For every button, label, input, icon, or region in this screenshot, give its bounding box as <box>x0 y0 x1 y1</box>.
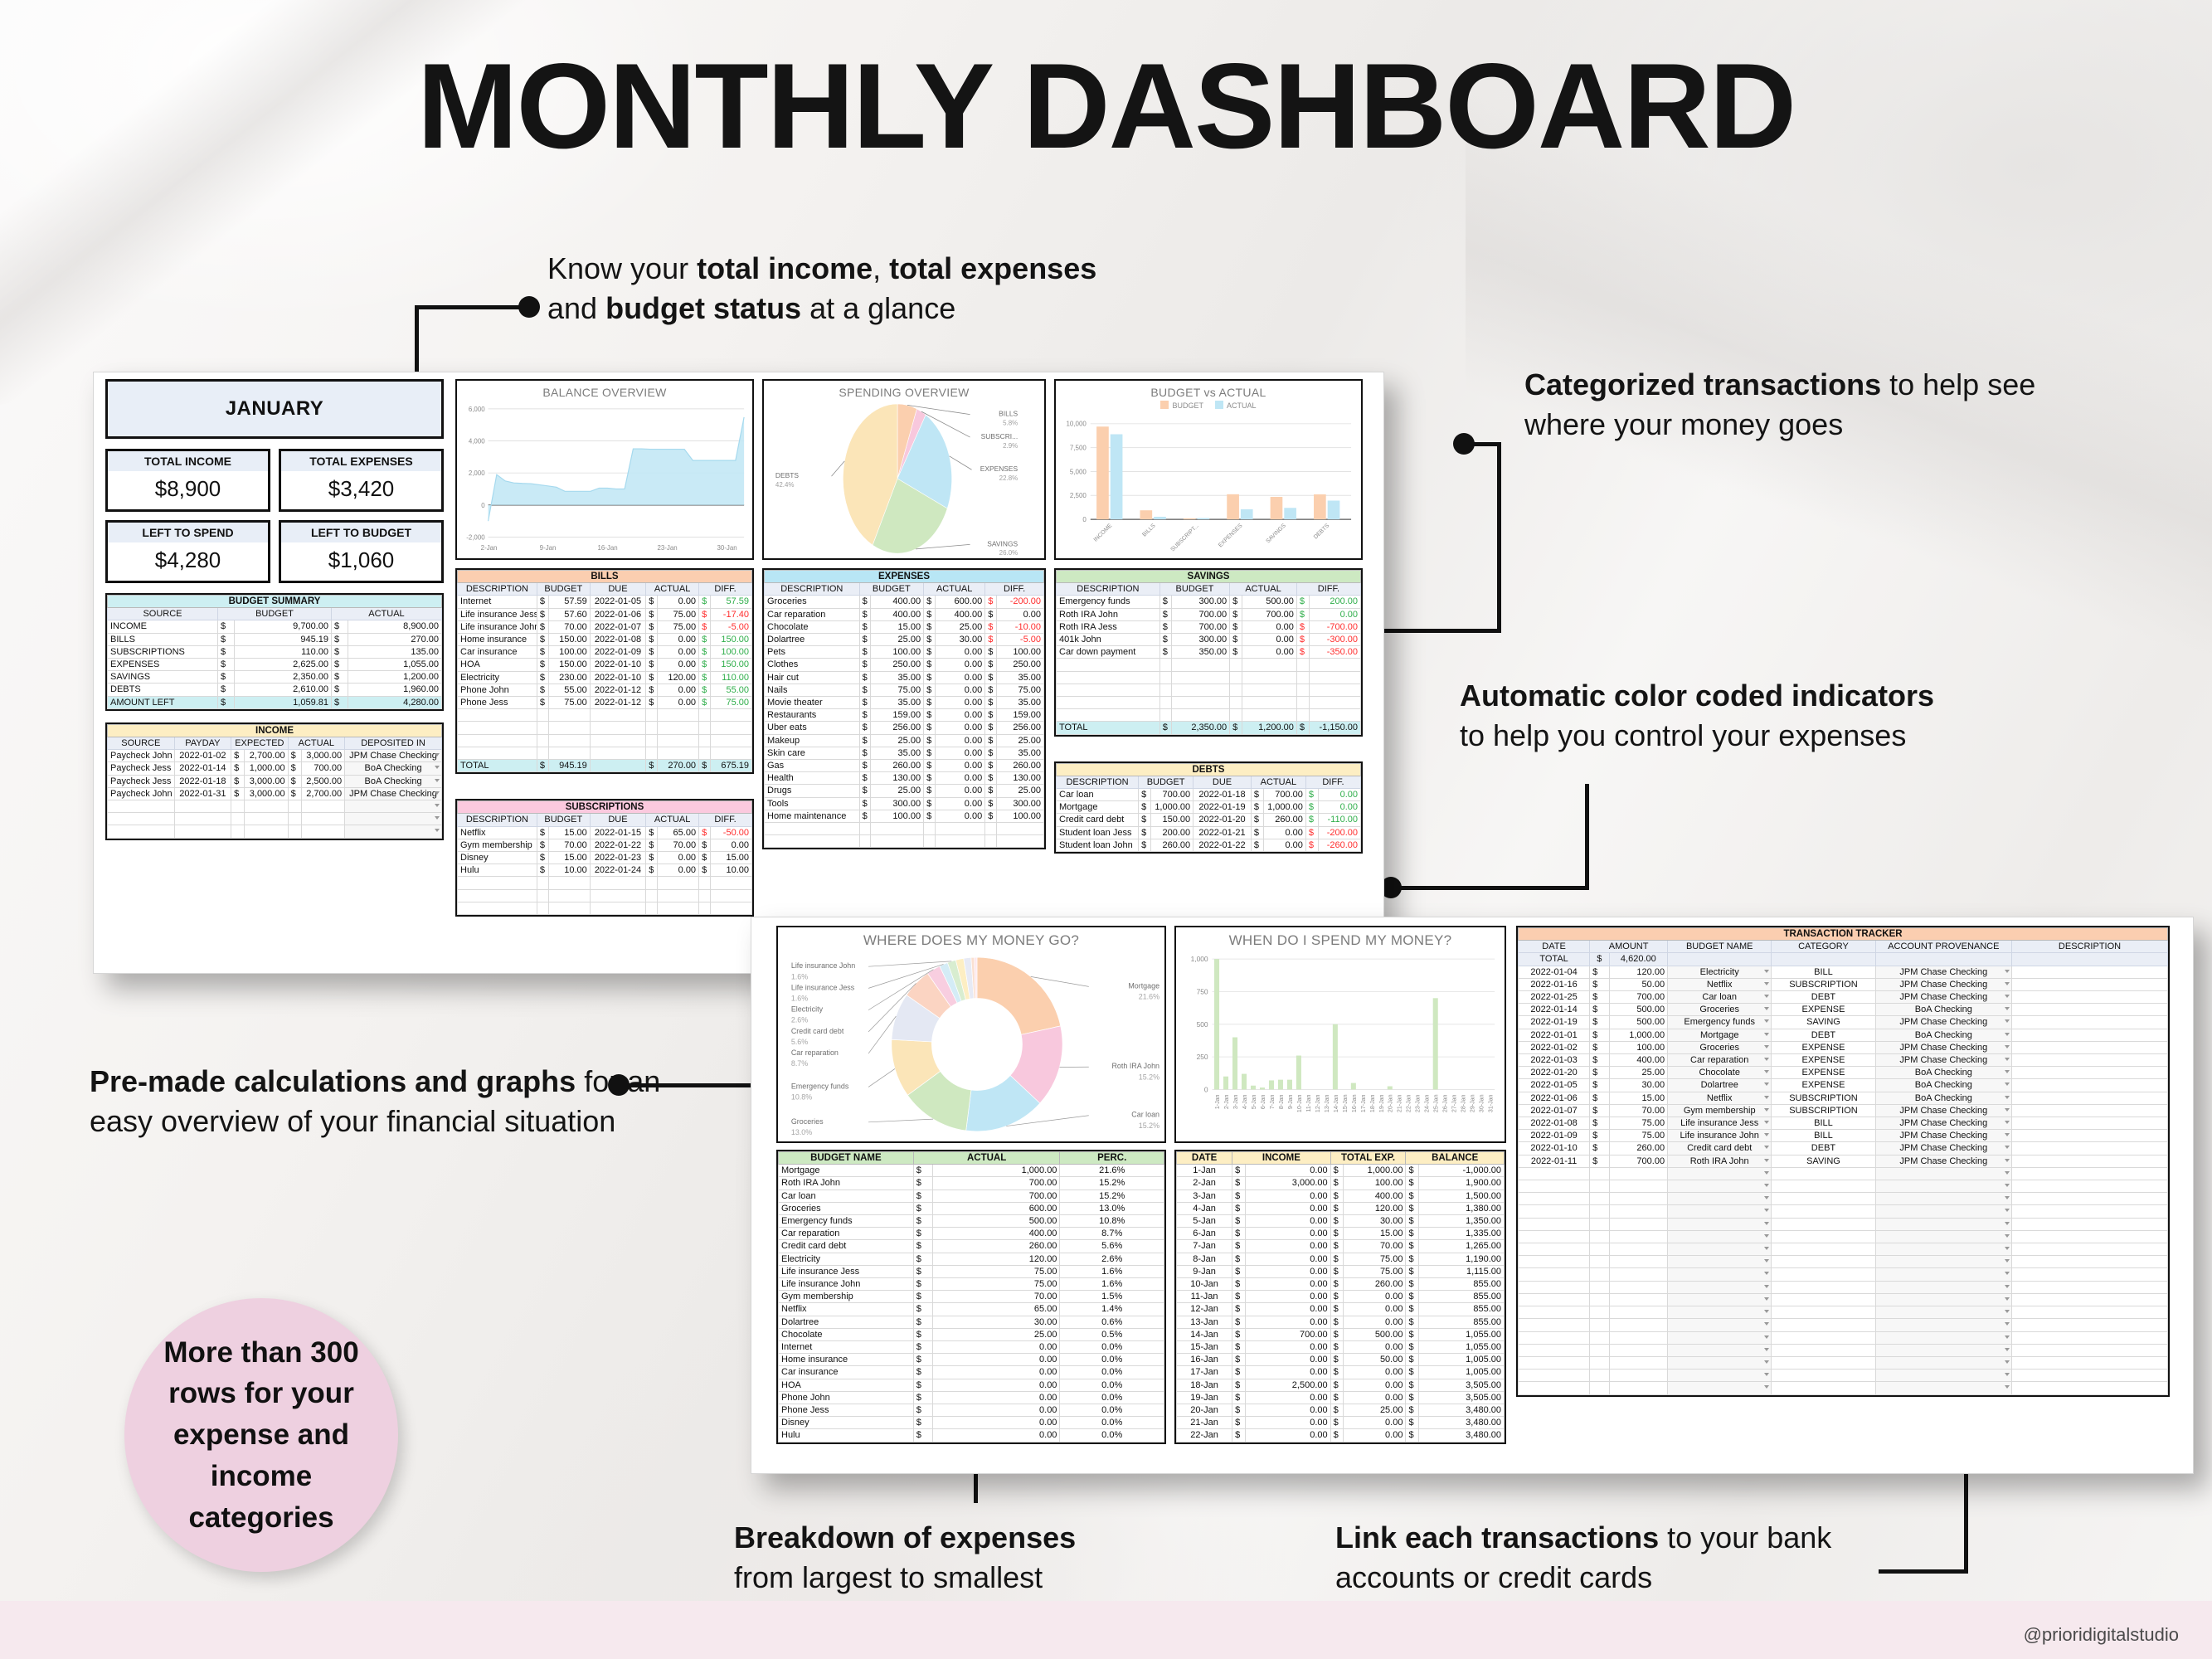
table-row[interactable]: Drugs $25.00 $0.00 $25.00 <box>765 785 1044 797</box>
table-row[interactable]: Nails $75.00 $0.00 $75.00 <box>765 684 1044 696</box>
table-row[interactable] <box>1057 684 1361 696</box>
cell-budget-name[interactable]: Dolartree <box>1668 1079 1772 1092</box>
table-row[interactable]: 2022-01-02 $100.00 Groceries EXPENSE JPM… <box>1519 1041 2168 1053</box>
cell-actual: 30.00 <box>933 1316 1060 1328</box>
table-row[interactable]: Paycheck Jess 2022-01-18 $3,000.00 $2,50… <box>108 775 442 787</box>
table-row[interactable]: Roth IRA John $700.00 15.2% <box>779 1177 1164 1190</box>
cell-account[interactable]: JPM Chase Checking <box>1875 1142 2011 1155</box>
cell-description: Mortgage <box>1057 801 1139 814</box>
table-row[interactable]: 8-Jan $0.00 $75.00 $1,190.00 <box>1177 1253 1505 1265</box>
svg-text:2.6%: 2.6% <box>791 1016 808 1024</box>
cell-description[interactable] <box>2012 966 2168 978</box>
cell-account[interactable]: BoA Checking <box>1875 1067 2011 1079</box>
table-row[interactable] <box>1519 1382 2168 1394</box>
cell-actual: 1,200.00 <box>348 671 442 684</box>
cell-actual: 0.00 <box>933 1404 1060 1417</box>
svg-text:23-Jan: 23-Jan <box>1416 1094 1422 1112</box>
cell-balance: 3,505.00 <box>1419 1379 1505 1391</box>
table-row[interactable]: 7-Jan $0.00 $70.00 $1,265.00 <box>1177 1240 1505 1253</box>
cell-budget: 10.00 <box>549 864 591 877</box>
table-row[interactable]: HOA $150.00 2022-01-10 $0.00 $150.00 <box>458 659 752 671</box>
cell-budget-name[interactable]: Netflix <box>1668 1092 1772 1104</box>
cell-due: 2022-01-08 <box>590 634 645 646</box>
svg-text:30-Jan: 30-Jan <box>717 544 737 552</box>
cell-account[interactable]: JPM Chase Checking <box>1875 1104 2011 1117</box>
table-row[interactable]: Mortgage $1,000.00 21.6% <box>779 1165 1164 1177</box>
cell-category: EXPENSE <box>1772 1079 1875 1092</box>
table-row[interactable]: Emergency funds $300.00 $500.00 $200.00 <box>1057 596 1361 608</box>
table-row[interactable] <box>458 709 752 722</box>
cell-account[interactable]: BoA Checking <box>1875 1092 2011 1104</box>
svg-text:Roth IRA John: Roth IRA John <box>1112 1062 1160 1070</box>
cell-date: 6-Jan <box>1177 1228 1232 1240</box>
table-row[interactable]: BILLS $945.19 $270.00 <box>108 633 442 645</box>
table-row[interactable]: 18-Jan $2,500.00 $0.00 $3,505.00 <box>1177 1379 1505 1391</box>
table-row[interactable]: 2022-01-05 $30.00 Dolartree EXPENSE BoA … <box>1519 1079 2168 1092</box>
table-row[interactable]: Netflix $15.00 2022-01-15 $65.00 $-50.00 <box>458 826 752 839</box>
cell-category: SAVING <box>1772 1155 1875 1167</box>
cell-actual: 0.00 <box>658 596 699 608</box>
table-row[interactable]: Electricity $120.00 2.6% <box>779 1253 1164 1265</box>
cell-balance: 1,005.00 <box>1419 1354 1505 1366</box>
table-row[interactable] <box>1519 1319 2168 1331</box>
table-row[interactable] <box>1519 1256 2168 1268</box>
cell-description[interactable] <box>2012 1117 2168 1130</box>
cell-description[interactable] <box>2012 1004 2168 1016</box>
cell-budget-name[interactable]: Life insurance John <box>1668 1130 1772 1142</box>
table-row[interactable]: 2022-01-01 $1,000.00 Mortgage DEBT BoA C… <box>1519 1029 2168 1041</box>
cell-budget-name[interactable]: Car reparation <box>1668 1054 1772 1067</box>
cell-account[interactable]: JPM Chase Checking <box>1875 966 2011 978</box>
cell-diff: -17.40 <box>711 608 752 620</box>
table-row[interactable]: Disney $0.00 0.0% <box>779 1417 1164 1429</box>
table-row[interactable]: Disney $15.00 2022-01-23 $0.00 $15.00 <box>458 852 752 864</box>
table-row[interactable]: Car insurance $100.00 2022-01-09 $0.00 $… <box>458 646 752 659</box>
table-row[interactable]: Paycheck Jess 2022-01-14 $1,000.00 $700.… <box>108 762 442 775</box>
table-row[interactable]: Internet $57.59 2022-01-05 $0.00 $57.59 <box>458 596 752 608</box>
cell-account[interactable]: BoA Checking <box>345 775 442 787</box>
chevron-down-icon <box>2005 1222 2010 1225</box>
table-row[interactable] <box>1519 1243 2168 1256</box>
table-row[interactable]: Student loan John $260.00 2022-01-22 $0.… <box>1057 839 1361 851</box>
table-row[interactable]: Hulu $10.00 2022-01-24 $0.00 $10.00 <box>458 864 752 877</box>
table-row[interactable] <box>1519 1293 2168 1306</box>
table-row[interactable]: Car loan $700.00 2022-01-18 $700.00 $0.0… <box>1057 789 1361 801</box>
callout-bold: total expenses <box>889 251 1096 285</box>
svg-text:SAVINGS: SAVINGS <box>987 539 1018 547</box>
table-row[interactable] <box>458 902 752 914</box>
callout-text: from largest to smallest <box>734 1560 1043 1594</box>
table-row[interactable] <box>1519 1268 2168 1281</box>
svg-text:15-Jan: 15-Jan <box>1343 1094 1349 1112</box>
table-row[interactable] <box>1519 1370 2168 1382</box>
table-row[interactable]: Life insurance John $75.00 1.6% <box>779 1278 1164 1291</box>
table-row[interactable]: Electricity $230.00 2022-01-10 $120.00 $… <box>458 671 752 684</box>
cell-total-exp: 0.00 <box>1344 1391 1406 1404</box>
cell-description[interactable] <box>2012 1079 2168 1092</box>
cell-description: Gas <box>765 760 860 772</box>
table-row[interactable]: 5-Jan $0.00 $30.00 $1,350.00 <box>1177 1215 1505 1228</box>
table-row[interactable]: Gym membership $70.00 2022-01-22 $70.00 … <box>458 839 752 851</box>
table-row[interactable]: Roth IRA Jess $700.00 $0.00 $-700.00 <box>1057 620 1361 633</box>
cell-diff: 159.00 <box>996 709 1043 722</box>
table-row[interactable]: 2022-01-07 $70.00 Gym membership SUBSCRI… <box>1519 1104 2168 1117</box>
cell-actual: 8,900.00 <box>348 620 442 633</box>
table-row[interactable] <box>458 889 752 902</box>
cell-account[interactable]: BoA Checking <box>1875 1079 2011 1092</box>
table-row[interactable]: Car reparation $400.00 $400.00 $0.00 <box>765 608 1044 620</box>
table-row[interactable]: 401k John $300.00 $0.00 $-300.00 <box>1057 634 1361 646</box>
cell-description: Hulu <box>458 864 537 877</box>
svg-text:16-Jan: 16-Jan <box>1352 1094 1358 1112</box>
cell-source: BILLS <box>108 633 218 645</box>
table-row[interactable]: 2022-01-06 $15.00 Netflix SUBSCRIPTION B… <box>1519 1092 2168 1104</box>
table-row[interactable]: 2022-01-08 $75.00 Life insurance Jess BI… <box>1519 1117 2168 1130</box>
cell-diff: 0.00 <box>1318 801 1360 814</box>
cell-account[interactable]: BoA Checking <box>1875 1029 2011 1041</box>
table-row[interactable]: Health $130.00 $0.00 $130.00 <box>765 772 1044 785</box>
table-row[interactable]: 22-Jan $0.00 $0.00 $3,480.00 <box>1177 1429 1505 1442</box>
table-row[interactable]: Credit card debt $150.00 2022-01-20 $260… <box>1057 814 1361 826</box>
table-row[interactable]: 3-Jan $0.00 $400.00 $1,500.00 <box>1177 1190 1505 1202</box>
table-row[interactable]: Chocolate $25.00 0.5% <box>779 1328 1164 1340</box>
table-row[interactable]: Phone Jess $0.00 0.0% <box>779 1404 1164 1417</box>
table-row[interactable]: Paycheck John 2022-01-02 $2,700.00 $3,00… <box>108 750 442 762</box>
table-row[interactable]: Credit card debt $260.00 5.6% <box>779 1240 1164 1253</box>
table-row[interactable]: Uber eats $256.00 $0.00 $256.00 <box>765 722 1044 734</box>
cell-description[interactable] <box>2012 1092 2168 1104</box>
cell-description: Student loan John <box>1057 839 1139 851</box>
cell-account[interactable]: JPM Chase Checking <box>1875 1054 2011 1067</box>
table-row[interactable] <box>1057 697 1361 709</box>
cell-budget: 300.00 <box>1172 596 1230 608</box>
table-row[interactable]: SUBSCRIPTIONS $110.00 $135.00 <box>108 645 442 658</box>
table-row[interactable]: Skin care $35.00 $0.00 $35.00 <box>765 747 1044 759</box>
chart-budget-vs-actual: BUDGET vs ACTUAL BUDGET ACTUAL 10,0007,5… <box>1054 379 1363 560</box>
table-row[interactable] <box>1519 1281 2168 1293</box>
table-row[interactable]: Pets $100.00 $0.00 $100.00 <box>765 646 1044 659</box>
table-row[interactable] <box>458 722 752 734</box>
table-row[interactable] <box>1519 1331 2168 1344</box>
table-row[interactable]: Life insurance Jess $57.60 2022-01-06 $7… <box>458 608 752 620</box>
cell-description: Restaurants <box>765 709 860 722</box>
cell-diff: -110.00 <box>1318 814 1360 826</box>
table-row[interactable] <box>1519 1193 2168 1205</box>
table-row[interactable]: Makeup $25.00 $0.00 $25.00 <box>765 734 1044 747</box>
cell-description[interactable] <box>2012 1142 2168 1155</box>
table-row[interactable]: Life insurance John $70.00 2022-01-07 $7… <box>458 620 752 633</box>
table-row[interactable] <box>1519 1230 2168 1243</box>
cell-budget-name[interactable]: Mortgage <box>1668 1029 1772 1041</box>
table-row[interactable]: Groceries $400.00 $600.00 $-200.00 <box>765 596 1044 608</box>
cell-budget-name[interactable]: Netflix <box>1668 978 1772 990</box>
cell-date: 2022-01-16 <box>1519 978 1590 990</box>
cell-actual: 25.00 <box>935 620 985 633</box>
cell-description[interactable] <box>2012 1054 2168 1067</box>
cell-budget-name: Home insurance <box>779 1354 914 1366</box>
chart-legend: BUDGET ACTUAL <box>1056 401 1361 410</box>
cell-description[interactable] <box>2012 1104 2168 1117</box>
table-row[interactable]: Movie theater $35.00 $0.00 $35.00 <box>765 697 1044 709</box>
svg-text:Credit card debt: Credit card debt <box>791 1027 844 1035</box>
table-row[interactable]: 2022-01-14 $500.00 Groceries EXPENSE BoA… <box>1519 1004 2168 1016</box>
table-title: BALANCE <box>1406 1152 1505 1165</box>
table-row[interactable] <box>108 825 442 838</box>
cell-amount: 25.00 <box>1609 1067 1667 1079</box>
table-row[interactable]: INCOME $9,700.00 $8,900.00 <box>108 620 442 633</box>
table-row[interactable]: Hulu $0.00 0.0% <box>779 1429 1164 1442</box>
cell-account[interactable]: JPM Chase Checking <box>1875 1016 2011 1029</box>
table-row[interactable]: DEBTS $2,610.00 $1,960.00 <box>108 684 442 696</box>
table-row[interactable]: 2022-01-03 $400.00 Car reparation EXPENS… <box>1519 1054 2168 1067</box>
cell-total-exp: 75.00 <box>1344 1253 1406 1265</box>
cell-balance: 1,335.00 <box>1419 1228 1505 1240</box>
bills-table: BILLS DESCRIPTIONBUDGETDUEACTUALDIFF. In… <box>455 568 754 774</box>
table-row[interactable]: Roth IRA John $700.00 $700.00 $0.00 <box>1057 608 1361 620</box>
cell-actual: 0.00 <box>935 671 985 684</box>
cell-category: SAVING <box>1772 1016 1875 1029</box>
table-row[interactable]: 11-Jan $0.00 $0.00 $855.00 <box>1177 1291 1505 1303</box>
cell-account[interactable]: JPM Chase Checking <box>1875 1041 2011 1053</box>
table-row[interactable]: Groceries $600.00 13.0% <box>779 1202 1164 1214</box>
cell-account[interactable]: BoA Checking <box>1875 1004 2011 1016</box>
cell-account[interactable]: JPM Chase Checking <box>1875 1117 2011 1130</box>
cell-date: 7-Jan <box>1177 1240 1232 1253</box>
cell-source: SAVINGS <box>108 671 218 684</box>
cell-description[interactable] <box>2012 1029 2168 1041</box>
table-row[interactable]: 19-Jan $0.00 $0.00 $3,505.00 <box>1177 1391 1505 1404</box>
cell-balance: 855.00 <box>1419 1291 1505 1303</box>
cell-source: SUBSCRIPTIONS <box>108 645 218 658</box>
cell-budget: 200.00 <box>1150 826 1193 839</box>
cell-payday: 2022-01-18 <box>174 775 231 787</box>
cell-budget-name[interactable]: Emergency funds <box>1668 1016 1772 1029</box>
table-row[interactable]: Dolartree $25.00 $30.00 $-5.00 <box>765 634 1044 646</box>
table-row[interactable]: 2022-01-20 $25.00 Chocolate EXPENSE BoA … <box>1519 1067 2168 1079</box>
cell-date: 2022-01-01 <box>1519 1029 1590 1041</box>
cell-budget-name[interactable]: Roth IRA John <box>1668 1155 1772 1167</box>
svg-text:5-Jan: 5-Jan <box>1252 1094 1257 1109</box>
cell-description[interactable] <box>2012 1155 2168 1167</box>
svg-text:10.8%: 10.8% <box>791 1092 812 1101</box>
cell-account[interactable]: JPM Chase Checking <box>1875 1155 2011 1167</box>
cell-budget-name[interactable]: Life insurance Jess <box>1668 1117 1772 1130</box>
cell-description[interactable] <box>2012 978 2168 990</box>
cell-budget-name[interactable]: Credit card debt <box>1668 1142 1772 1155</box>
cell-description: Makeup <box>765 734 860 747</box>
table-row[interactable]: 2022-01-16 $50.00 Netflix SUBSCRIPTION J… <box>1519 978 2168 990</box>
chevron-down-icon <box>2005 1272 2010 1275</box>
table-row[interactable]: 13-Jan $0.00 $0.00 $855.00 <box>1177 1316 1505 1328</box>
table-row[interactable]: Hair cut $35.00 $0.00 $35.00 <box>765 671 1044 684</box>
cell-description[interactable] <box>2012 1067 2168 1079</box>
cell-budget: 150.00 <box>549 634 591 646</box>
cell-budget-name[interactable]: Groceries <box>1668 1004 1772 1016</box>
cell-diff: -300.00 <box>1309 634 1360 646</box>
table-row[interactable]: 2022-01-10 $260.00 Credit card debt DEBT… <box>1519 1142 2168 1155</box>
table-row[interactable]: Netflix $65.00 1.4% <box>779 1303 1164 1316</box>
table-row[interactable]: Home maintenance $100.00 $0.00 $100.00 <box>765 810 1044 822</box>
table-row[interactable]: Car insurance $0.00 0.0% <box>779 1366 1164 1379</box>
cell-description[interactable] <box>2012 1016 2168 1029</box>
table-row[interactable]: 10-Jan $0.00 $260.00 $855.00 <box>1177 1278 1505 1291</box>
cell-actual: 0.00 <box>1263 826 1305 839</box>
cell-actual: 0.00 <box>935 797 985 810</box>
cell-balance: 1,055.00 <box>1419 1341 1505 1354</box>
callout-bold: Link each transactions <box>1335 1520 1659 1554</box>
cell-income: 0.00 <box>1245 1228 1330 1240</box>
table-title: PERC. <box>1060 1152 1164 1165</box>
cell-balance: 3,480.00 <box>1419 1417 1505 1429</box>
table-row[interactable]: Car reparation $400.00 8.7% <box>779 1228 1164 1240</box>
table-row[interactable]: 2022-01-04 $120.00 Electricity BILL JPM … <box>1519 966 2168 978</box>
table-row[interactable]: 15-Jan $0.00 $0.00 $1,055.00 <box>1177 1341 1505 1354</box>
table-row[interactable]: 2022-01-09 $75.00 Life insurance John BI… <box>1519 1130 2168 1142</box>
table-row[interactable] <box>1519 1205 2168 1218</box>
table-row[interactable] <box>108 800 442 813</box>
table-row[interactable]: Home insurance $150.00 2022-01-08 $0.00 … <box>458 634 752 646</box>
callout-text: to help you control your expenses <box>1460 718 1906 752</box>
table-row[interactable]: Gas $260.00 $0.00 $260.00 <box>765 760 1044 772</box>
table-row[interactable] <box>458 747 752 759</box>
table-row[interactable]: Student loan Jess $200.00 2022-01-21 $0.… <box>1057 826 1361 839</box>
table-row[interactable]: HOA $0.00 0.0% <box>779 1379 1164 1391</box>
svg-text:10,000: 10,000 <box>1066 421 1087 428</box>
chart-title: WHERE DOES MY MONEY GO? <box>778 927 1164 949</box>
table-row[interactable]: 6-Jan $0.00 $15.00 $1,335.00 <box>1177 1228 1505 1240</box>
cell-budget-name[interactable]: Electricity <box>1668 966 1772 978</box>
cell-actual: 2,700.00 <box>301 787 344 800</box>
cell-diff: 35.00 <box>996 747 1043 759</box>
table-row[interactable]: 17-Jan $0.00 $0.00 $1,005.00 <box>1177 1366 1505 1379</box>
dashboard-panel-bottom: WHERE DOES MY MONEY GO? Mortgage21.6%Rot… <box>751 917 2194 1474</box>
table-row[interactable]: EXPENSES $2,625.00 $1,055.00 <box>108 659 442 671</box>
table-row[interactable]: 14-Jan $700.00 $500.00 $1,055.00 <box>1177 1328 1505 1340</box>
cell-budget-name[interactable]: Chocolate <box>1668 1067 1772 1079</box>
table-row[interactable]: Car loan $700.00 15.2% <box>779 1190 1164 1202</box>
table-row[interactable]: 20-Jan $0.00 $25.00 $3,480.00 <box>1177 1404 1505 1417</box>
cell-budget-name: Groceries <box>779 1202 914 1214</box>
table-row[interactable]: 2022-01-19 $500.00 Emergency funds SAVIN… <box>1519 1016 2168 1029</box>
cell-description[interactable] <box>2012 991 2168 1004</box>
table-row[interactable] <box>1057 709 1361 722</box>
table-row[interactable]: Phone John $55.00 2022-01-12 $0.00 $55.0… <box>458 684 752 696</box>
cell-account[interactable]: JPM Chase Checking <box>345 750 442 762</box>
table-row[interactable]: Clothes $250.00 $0.00 $250.00 <box>765 659 1044 671</box>
cell-balance: 1,380.00 <box>1419 1202 1505 1214</box>
table-row[interactable]: 9-Jan $0.00 $75.00 $1,115.00 <box>1177 1265 1505 1277</box>
cell-date: 8-Jan <box>1177 1253 1232 1265</box>
table-row[interactable]: Life insurance Jess $75.00 1.6% <box>779 1265 1164 1277</box>
cell-description: Student loan Jess <box>1057 826 1139 839</box>
table-row[interactable]: Emergency funds $500.00 10.8% <box>779 1215 1164 1228</box>
kpi-left-to-budget: LEFT TO BUDGET $1,060 <box>279 520 444 583</box>
table-row[interactable]: Restaurants $159.00 $0.00 $159.00 <box>765 709 1044 722</box>
table-row[interactable]: 16-Jan $0.00 $50.00 $1,005.00 <box>1177 1354 1505 1366</box>
table-row[interactable]: Phone Jess $75.00 2022-01-12 $0.00 $75.0… <box>458 697 752 709</box>
cell-account[interactable]: JPM Chase Checking <box>345 787 442 800</box>
cell-budget: 400.00 <box>871 608 924 620</box>
cell-income: 0.00 <box>1245 1253 1330 1265</box>
table-row[interactable]: Tools $300.00 $0.00 $300.00 <box>765 797 1044 810</box>
cell-budget-name: Car loan <box>779 1190 914 1202</box>
cell-total-exp: 50.00 <box>1344 1354 1406 1366</box>
svg-text:Mortgage: Mortgage <box>1128 981 1159 990</box>
cell-category: DEBT <box>1772 1142 1875 1155</box>
table-row[interactable]: 4-Jan $0.00 $120.00 $1,380.00 <box>1177 1202 1505 1214</box>
cell-budget-name: Hulu <box>779 1429 914 1442</box>
cell-account[interactable]: BoA Checking <box>345 762 442 775</box>
legend-item-actual: ACTUAL <box>1215 401 1257 410</box>
cell-income: 0.00 <box>1245 1190 1330 1202</box>
legend-item-budget: BUDGET <box>1160 401 1203 410</box>
table-row[interactable]: Dolartree $30.00 0.6% <box>779 1316 1164 1328</box>
table-row[interactable]: Internet $0.00 0.0% <box>779 1341 1164 1354</box>
table-row[interactable] <box>458 734 752 747</box>
cell-description[interactable] <box>2012 1130 2168 1142</box>
table-row[interactable] <box>1519 1167 2168 1180</box>
cell-budget: 100.00 <box>549 646 591 659</box>
chevron-down-icon <box>1764 1222 1769 1225</box>
cell-diff: 256.00 <box>996 722 1043 734</box>
table-row[interactable] <box>1519 1356 2168 1369</box>
table-row[interactable] <box>1519 1218 2168 1230</box>
table-row[interactable] <box>1519 1306 2168 1319</box>
table-row[interactable]: Home insurance $0.00 0.0% <box>779 1354 1164 1366</box>
table-row[interactable] <box>765 823 1044 835</box>
table-row[interactable]: Gym membership $70.00 1.5% <box>779 1291 1164 1303</box>
table-row[interactable]: Paycheck John 2022-01-31 $3,000.00 $2,70… <box>108 787 442 800</box>
cell-date: 2-Jan <box>1177 1177 1232 1190</box>
cell-account[interactable]: JPM Chase Checking <box>1875 1130 2011 1142</box>
cell-account[interactable]: JPM Chase Checking <box>1875 991 2011 1004</box>
cell-budget-name[interactable]: Car loan <box>1668 991 1772 1004</box>
cell-perc: 15.2% <box>1060 1177 1164 1190</box>
table-title: TOTAL EXP. <box>1330 1152 1406 1165</box>
cell-actual: 700.00 <box>933 1177 1060 1190</box>
table-row[interactable]: 2-Jan $3,000.00 $100.00 $1,900.00 <box>1177 1177 1505 1190</box>
cell-actual: 260.00 <box>1263 814 1305 826</box>
cell-date: 21-Jan <box>1177 1417 1232 1429</box>
cell-description[interactable] <box>2012 1041 2168 1053</box>
table-row[interactable] <box>458 877 752 889</box>
cell-budget-name[interactable]: Groceries <box>1668 1041 1772 1053</box>
cell-budget: 260.00 <box>1150 839 1193 851</box>
table-row[interactable]: 21-Jan $0.00 $0.00 $3,480.00 <box>1177 1417 1505 1429</box>
table-row[interactable]: Chocolate $15.00 $25.00 $-10.00 <box>765 620 1044 633</box>
table-row[interactable] <box>108 813 442 825</box>
cell-due: 2022-01-15 <box>590 826 645 839</box>
cell-budget-name: Car reparation <box>779 1228 914 1240</box>
table-row[interactable] <box>1057 659 1361 671</box>
table-row[interactable]: 2022-01-25 $700.00 Car loan DEBT JPM Cha… <box>1519 991 2168 1004</box>
table-row[interactable]: 1-Jan $0.00 $1,000.00 $-1,000.00 <box>1177 1165 1505 1177</box>
table-row[interactable] <box>1519 1180 2168 1193</box>
table-row[interactable] <box>1519 1344 2168 1356</box>
chevron-down-icon <box>1764 1373 1769 1376</box>
table-row[interactable]: 12-Jan $0.00 $0.00 $855.00 <box>1177 1303 1505 1316</box>
table-row[interactable]: SAVINGS $2,350.00 $1,200.00 <box>108 671 442 684</box>
table-row[interactable]: Mortgage $1,000.00 2022-01-19 $1,000.00 … <box>1057 801 1361 814</box>
table-row[interactable] <box>765 835 1044 848</box>
table-row[interactable]: Car down payment $350.00 $0.00 $-350.00 <box>1057 646 1361 659</box>
table-row[interactable]: 2022-01-11 $700.00 Roth IRA John SAVING … <box>1519 1155 2168 1167</box>
table-row[interactable]: Phone John $0.00 0.0% <box>779 1391 1164 1404</box>
table-row[interactable] <box>1057 671 1361 684</box>
cell-diff: 300.00 <box>996 797 1043 810</box>
cell-account[interactable]: JPM Chase Checking <box>1875 978 2011 990</box>
cell-budget-name[interactable]: Gym membership <box>1668 1104 1772 1117</box>
